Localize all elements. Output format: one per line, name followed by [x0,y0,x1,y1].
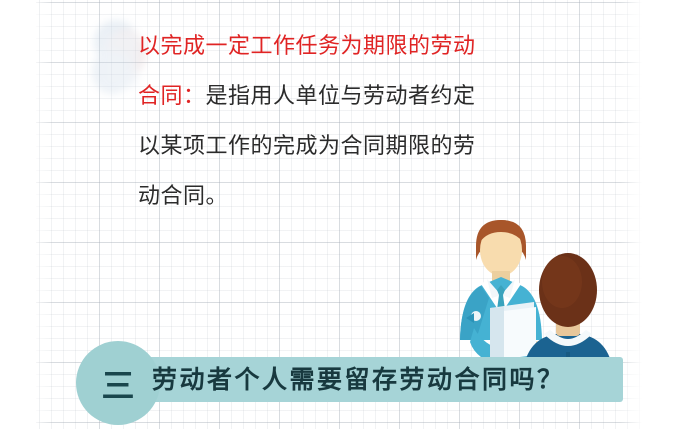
definition-paragraph: 以完成一定工作任务为期限的劳动 合同：是指用人单位与劳动者约定 以某项工作的完成… [138,22,558,222]
contract-paper-fold [490,307,504,360]
section-heading: 劳动者个人需要留存劳动合同吗？ [152,362,622,398]
paragraph-line-3-body: 以某项工作的完成为合同期限的劳 [138,134,476,159]
paragraph-line-1-accent: 以完成一定工作任务为期限的劳动 [138,34,476,59]
paragraph-line-1: 以完成一定工作任务为期限的劳动 [138,22,558,72]
paragraph-line-3: 以某项工作的完成为合同期限的劳 [138,122,558,172]
grid-left-fade [30,0,52,429]
paragraph-line-2: 合同：是指用人单位与劳动者约定 [138,72,558,122]
paragraph-line-2-accent: 合同： [138,84,206,109]
back-person-hair-highlight [542,256,582,308]
section-number-label: 三 [76,341,160,425]
infographic-poster: 以完成一定工作任务为期限的劳动 合同：是指用人单位与劳动者约定 以某项工作的完成… [0,0,679,429]
paragraph-line-4-body: 动合同。 [138,184,228,209]
business-people-illustration [438,212,648,380]
paragraph-line-2-body: 是指用人单位与劳动者约定 [206,84,476,109]
